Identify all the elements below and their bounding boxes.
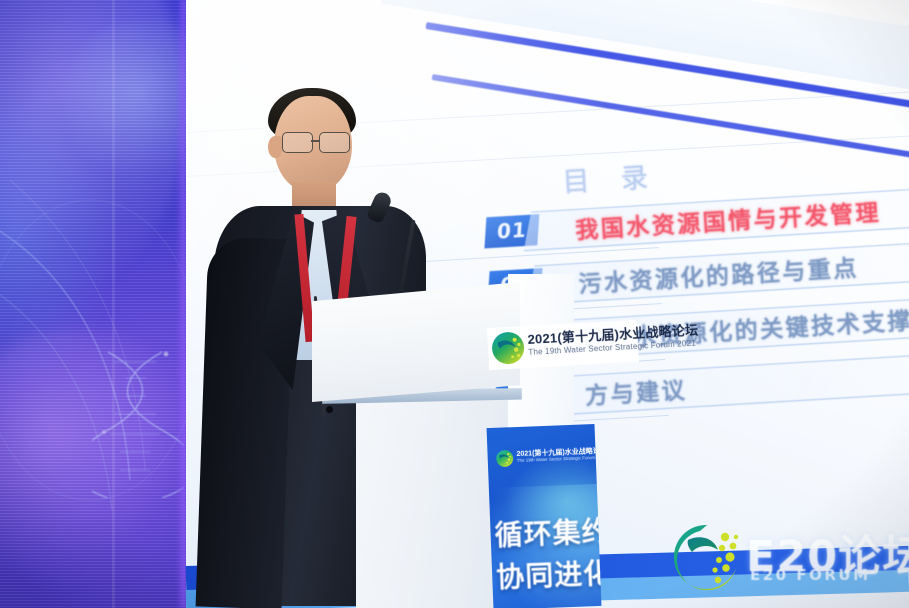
podium-front-banner: 2021(第十九届)水业战略论坛 The 19th Water Sector S… [487,424,602,608]
podium-column [356,394,508,608]
led-edge-glow [176,0,186,608]
forum-logo-icon [495,449,514,468]
forum-logo-icon [670,520,744,594]
podium-logo-plate: 2021(第十九届)水业战略论坛 The 19th Water Sector S… [487,320,639,370]
led-panel-seam [112,0,115,608]
speaker-ear [268,136,282,158]
forum-logo-icon [490,330,526,366]
watermark-subtitle: E20 FORUM [750,566,871,584]
banner-slogan-line-2: 协同进化 [495,552,600,596]
conference-stage-photo: 目 录 01 我国水资源国情与开发管理 02 污水资源化的路径与重点 03 量污… [0,0,909,608]
led-orb-graphic [60,20,186,200]
slide-title: 目 录 [561,155,661,200]
banner-logo: 2021(第十九届)水业战略论坛 The 19th Water Sector S… [495,446,592,470]
glasses-icon [282,132,356,152]
led-dna-helix-graphic [92,348,184,498]
e20-forum-watermark: E20论坛 E20 FORUM [664,508,909,608]
banner-slogan-line-1: 循环集约 [494,510,599,554]
led-wall-left-panel [0,0,186,608]
podium: 2021(第十九届)水业战略论坛 The 19th Water Sector S… [300,276,630,608]
